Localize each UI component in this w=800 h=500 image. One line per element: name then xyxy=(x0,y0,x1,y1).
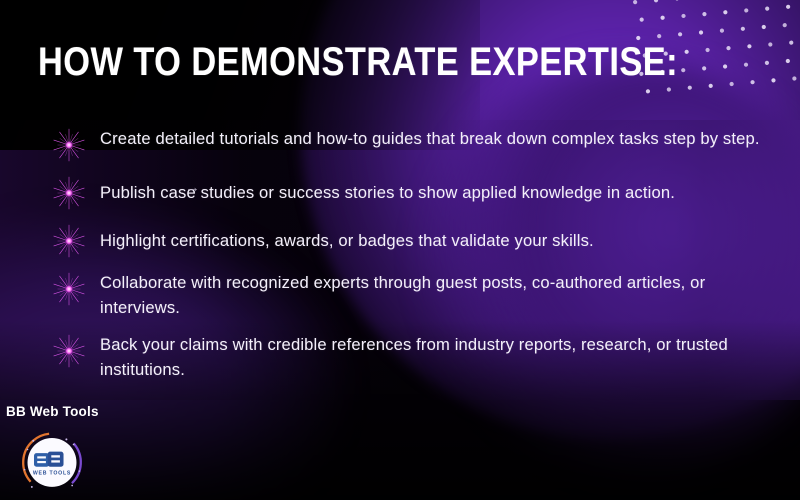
starburst-icon xyxy=(52,272,86,306)
bb-web-tools-logo: WEB TOOLS xyxy=(16,425,88,497)
bullet-list: Create detailed tutorials and how-to gui… xyxy=(52,126,764,394)
logo-tagline: WEB TOOLS xyxy=(33,470,71,476)
brand-name: BB Web Tools xyxy=(6,404,99,419)
list-item-text: Back your claims with credible reference… xyxy=(100,332,762,382)
logo-monogram xyxy=(34,452,64,467)
starburst-icon xyxy=(52,176,86,210)
slide-canvas: HOW TO DEMONSTRATE EXPERTISE: Create det… xyxy=(0,0,800,500)
list-item-text: Create detailed tutorials and how-to gui… xyxy=(100,126,760,151)
arrow-right-icon: → xyxy=(185,180,200,195)
list-item: Collaborate with recognized experts thro… xyxy=(52,270,764,320)
list-item: Back your claims with credible reference… xyxy=(52,332,764,382)
list-item: Create detailed tutorials and how-to gui… xyxy=(52,126,764,162)
starburst-icon xyxy=(52,334,86,368)
list-item: Highlight certifications, awards, or bad… xyxy=(52,222,764,258)
starburst-icon xyxy=(52,224,86,258)
page-title: HOW TO DEMONSTRATE EXPERTISE: xyxy=(38,40,678,84)
list-item: Publish case studies or success stories … xyxy=(52,174,764,210)
starburst-icon xyxy=(52,128,86,162)
list-item-text: Collaborate with recognized experts thro… xyxy=(100,270,762,320)
list-item-text: Highlight certifications, awards, or bad… xyxy=(100,228,594,253)
